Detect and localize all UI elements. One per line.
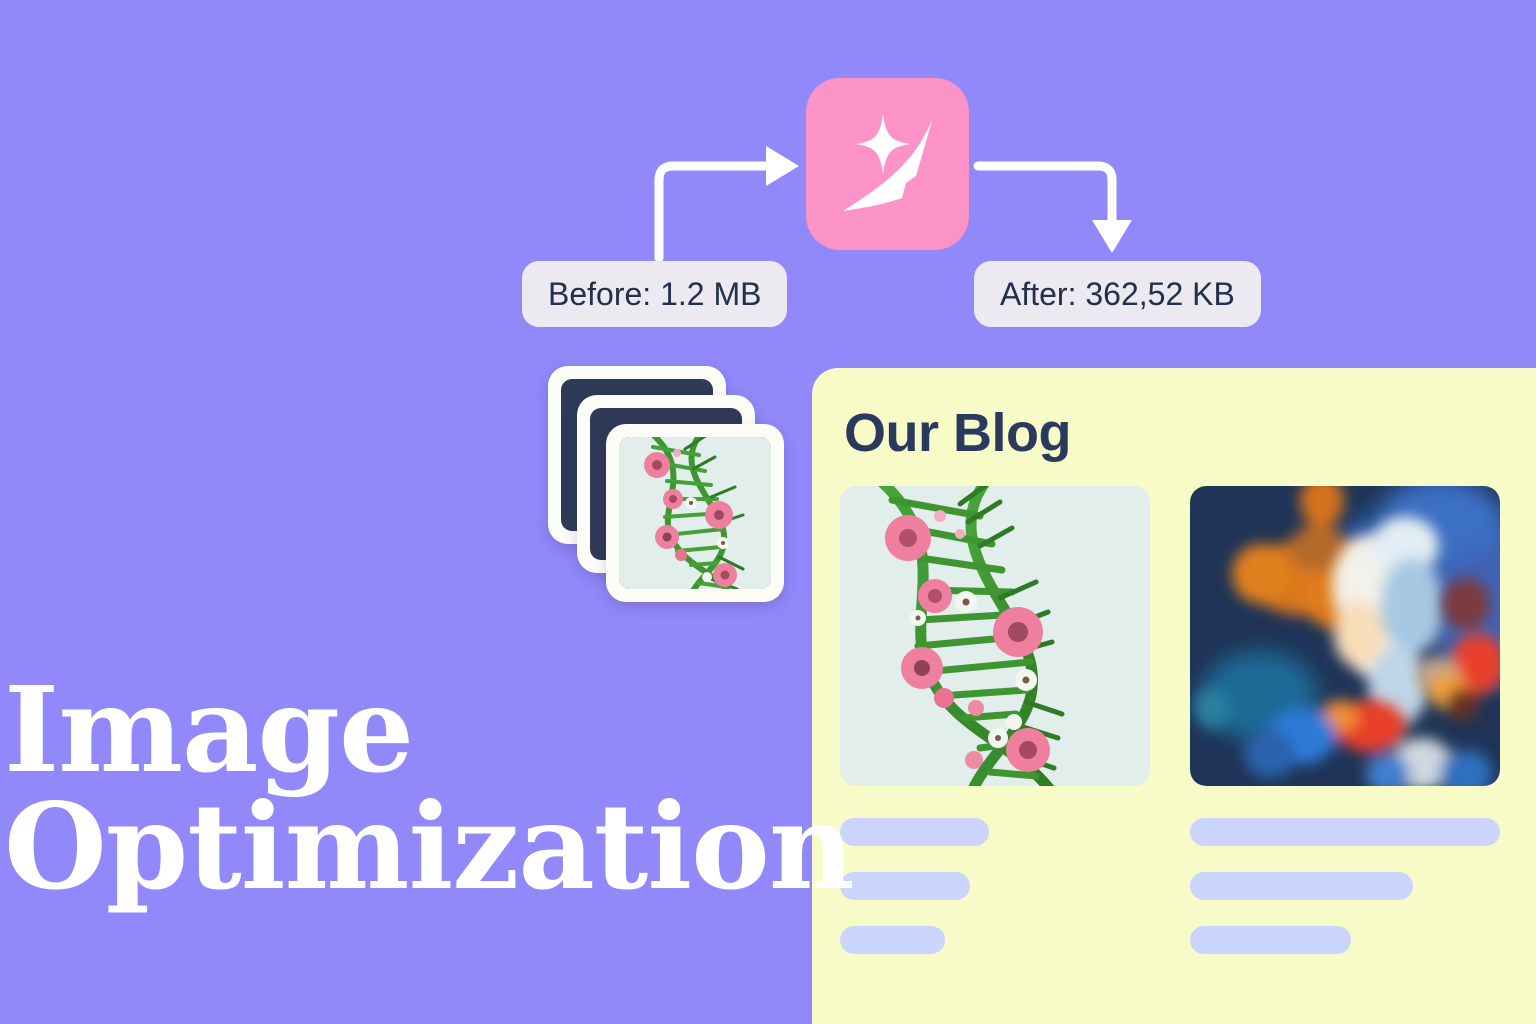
image-card-stack[interactable] [548,366,798,616]
page-title-line-2: Optimization [4,789,794,906]
stacked-card-front[interactable] [606,424,784,602]
skeleton-line [1190,926,1351,954]
page-title: Image Optimization [4,672,794,906]
blog-card-skeleton-text [840,818,1150,954]
card-inner-fill [619,437,771,589]
arrow-into-optimizer [659,146,799,258]
floral-dna-helix-thumb [619,437,771,589]
skeleton-line [840,926,945,954]
blog-panel: Our Blog [812,368,1536,1024]
blog-thumbnail-dna[interactable] [840,486,1150,786]
floral-dna-helix-image [840,486,1150,786]
blog-card-grid [840,486,1508,954]
arrow-out-of-optimizer [978,166,1132,253]
skeleton-line [840,818,989,846]
blog-card-skeleton-text [1190,818,1500,954]
blog-panel-title: Our Blog [844,406,1071,460]
abstract-paint-blobs-image [1190,486,1500,786]
after-size-label: After: 362,52 KB [974,261,1261,327]
optimizer-app-icon[interactable] [806,78,969,250]
poster-canvas: Our Blog [0,0,1536,1024]
skeleton-line [1190,818,1500,846]
skeleton-line [840,872,970,900]
before-size-label: Before: 1.2 MB [522,261,787,327]
skeleton-line [1190,872,1413,900]
blog-card[interactable] [1190,486,1500,954]
blog-card[interactable] [840,486,1150,954]
blog-thumbnail-abstract[interactable] [1190,486,1500,786]
sparkle-wand-icon [806,78,969,250]
